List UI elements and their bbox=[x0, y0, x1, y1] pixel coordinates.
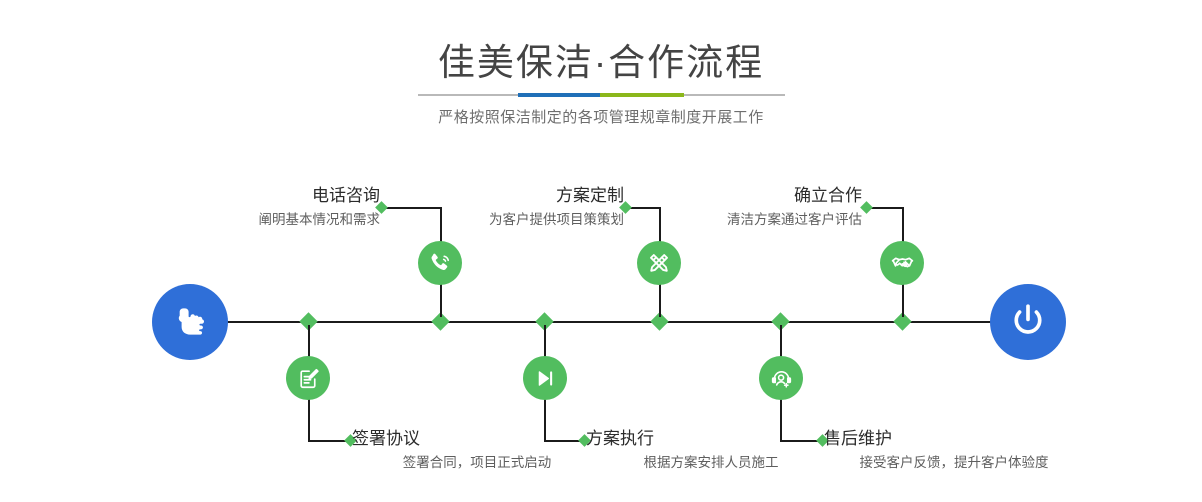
step-title-3: 方案定制 bbox=[384, 186, 624, 206]
step-desc-4: 根据方案安排人员施工 bbox=[586, 455, 836, 471]
step-desc-5: 清洁方案通过客户评估 bbox=[620, 212, 862, 228]
handshake-icon bbox=[889, 250, 916, 277]
step-title-1: 电话咨询 bbox=[140, 186, 380, 206]
step-node-5[interactable] bbox=[880, 241, 924, 285]
header: 佳美保洁·合作流程 bbox=[0, 0, 1202, 81]
connector-dot-5 bbox=[860, 201, 873, 214]
page-title: 佳美保洁·合作流程 bbox=[0, 44, 1202, 81]
step-title-5: 确立合作 bbox=[620, 186, 862, 206]
step-label-3: 方案定制 为客户提供项目策策划 bbox=[384, 186, 624, 227]
play-execute-icon bbox=[533, 366, 558, 391]
power-icon bbox=[1006, 300, 1050, 344]
title-divider bbox=[418, 94, 785, 96]
pointing-hand-icon bbox=[169, 301, 211, 343]
step-label-2: 签署协议 签署合同，项目正式启动 bbox=[352, 429, 602, 470]
step-label-5: 确立合作 清洁方案通过客户评估 bbox=[620, 186, 862, 227]
divider-blue-segment bbox=[518, 93, 600, 97]
step-label-1: 电话咨询 阐明基本情况和需求 bbox=[140, 186, 380, 227]
step-desc-1: 阐明基本情况和需求 bbox=[140, 212, 380, 228]
step-title-2: 签署协议 bbox=[352, 429, 602, 449]
step-desc-6: 接受客户反馈，提升客户体验度 bbox=[824, 455, 1084, 471]
headset-support-icon bbox=[769, 366, 794, 391]
flowchart-canvas: 佳美保洁·合作流程 严格按照保洁制定的各项管理规章制度开展工作 bbox=[0, 0, 1202, 502]
page-subtitle: 严格按照保洁制定的各项管理规章制度开展工作 bbox=[0, 106, 1202, 127]
step-node-4[interactable] bbox=[523, 356, 567, 400]
pencil-ruler-icon bbox=[646, 250, 672, 276]
step-label-4: 方案执行 根据方案安排人员施工 bbox=[586, 429, 836, 470]
step-title-4: 方案执行 bbox=[586, 429, 836, 449]
document-sign-icon bbox=[296, 366, 321, 391]
phone-call-icon bbox=[427, 250, 453, 276]
timeline-start-cap bbox=[152, 284, 228, 360]
step-node-2[interactable] bbox=[286, 356, 330, 400]
step-desc-3: 为客户提供项目策策划 bbox=[384, 212, 624, 228]
divider-green-segment bbox=[600, 93, 684, 97]
step-node-1[interactable] bbox=[418, 241, 462, 285]
step-node-3[interactable] bbox=[637, 241, 681, 285]
step-title-6: 售后维护 bbox=[824, 429, 1084, 449]
step-desc-2: 签署合同，项目正式启动 bbox=[352, 455, 602, 471]
step-label-6: 售后维护 接受客户反馈，提升客户体验度 bbox=[824, 429, 1084, 470]
step-node-6[interactable] bbox=[759, 356, 803, 400]
timeline-end-cap bbox=[990, 284, 1066, 360]
